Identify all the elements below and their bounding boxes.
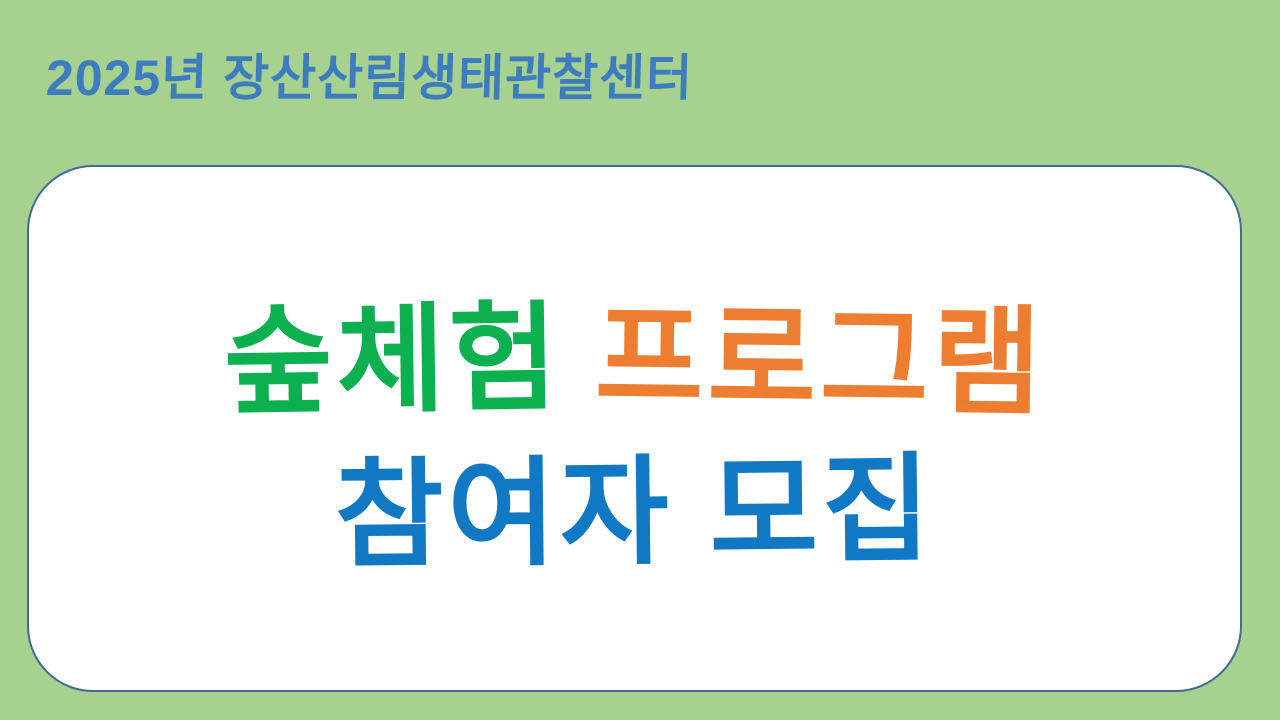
headline-block: 숲체험프로그램 참여자 모집 xyxy=(29,285,1240,589)
headline-segment-experience: 숲체험 xyxy=(222,283,562,440)
headline-segment-program: 프로그램 xyxy=(594,282,1046,439)
headline-segment-recruitment: 참여자 모집 xyxy=(334,434,935,592)
poster-canvas: 2025년 장산산림생태관찰센터 숲체험프로그램 참여자 모집 xyxy=(0,0,1280,720)
headline-line-1: 숲체험프로그램 xyxy=(29,285,1240,437)
headline-line-2: 참여자 모집 xyxy=(29,437,1240,589)
page-title: 2025년 장산산림생태관찰센터 xyxy=(45,48,694,108)
content-card: 숲체험프로그램 참여자 모집 xyxy=(27,165,1242,692)
